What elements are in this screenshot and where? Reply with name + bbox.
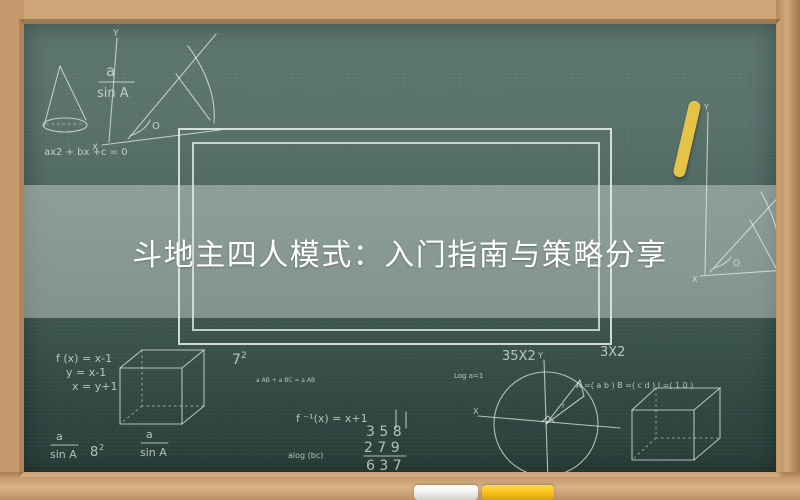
chalkboard-surface: a sin A ax2 + bx +c = 0 Y X O [24, 24, 776, 472]
formula-log-bc: alog (bc) [288, 451, 323, 460]
label-3x2: 3X2 [600, 345, 625, 360]
svg-text:a: a [146, 428, 153, 441]
svg-text:x = y+1: x = y+1 [72, 380, 117, 393]
formula-a-over-sina-3: a sin A [140, 428, 168, 459]
svg-text:a: a [56, 430, 63, 443]
chalkboard-banner: a sin A ax2 + bx +c = 0 Y X O [0, 0, 800, 500]
svg-text:sin A: sin A [50, 448, 77, 461]
svg-text:2: 2 [241, 351, 247, 361]
cone-drawing [43, 66, 87, 132]
formula-ab-bc: a AB + a BC = a AB [256, 377, 315, 384]
svg-text:7: 7 [232, 352, 241, 368]
svg-text:Y: Y [537, 351, 543, 360]
cube-drawing-2 [632, 388, 720, 460]
ledge-chalk-yellow [482, 485, 554, 500]
cube-drawing-1 [120, 350, 204, 424]
svg-text:sin A: sin A [140, 446, 167, 459]
formula-function-set: f (x) = x-1 y = x-1 x = y+1 [56, 352, 117, 393]
svg-text:6 3 7: 6 3 7 [366, 458, 402, 472]
formula-eight-squared: 8 2 [90, 443, 104, 460]
svg-text:2: 2 [99, 443, 104, 452]
svg-text:Y: Y [703, 103, 709, 112]
svg-text:X: X [473, 407, 479, 416]
svg-text:f (x) = x-1: f (x) = x-1 [56, 352, 112, 365]
formula-matrix-row: A =( a b ) B =( c d ) I =( 1 0 ) [576, 381, 693, 390]
formula-quadratic: ax2 + bx +c = 0 [44, 147, 128, 158]
svg-text:2 7 9: 2 7 9 [364, 440, 400, 456]
svg-text:X: X [92, 143, 98, 153]
long-division-block: 3 5 8 2 7 9 6 3 7 [364, 410, 406, 472]
formula-seven-squared: 7 2 [232, 351, 247, 368]
formula-log-a1: Log a=1 [454, 372, 483, 380]
formula-a-over-sina-2: a sin A [50, 430, 78, 461]
svg-text:r: r [562, 402, 565, 410]
svg-text:Y: Y [112, 29, 119, 39]
label-35x2: 35X2 [502, 349, 536, 364]
ledge-chalk-white [414, 485, 478, 500]
page-title: 斗地主四人模式：入门指南与策略分享 [24, 185, 776, 318]
formula-a-over-sina-1: a sin A [97, 62, 134, 101]
svg-text:8: 8 [90, 445, 98, 460]
formula-f-inverse: f ⁻¹(x) = x+1 [296, 412, 368, 425]
circle-diagram: Y X r [473, 351, 620, 472]
svg-text:y = x-1: y = x-1 [66, 366, 106, 379]
svg-text:O: O [152, 121, 160, 132]
